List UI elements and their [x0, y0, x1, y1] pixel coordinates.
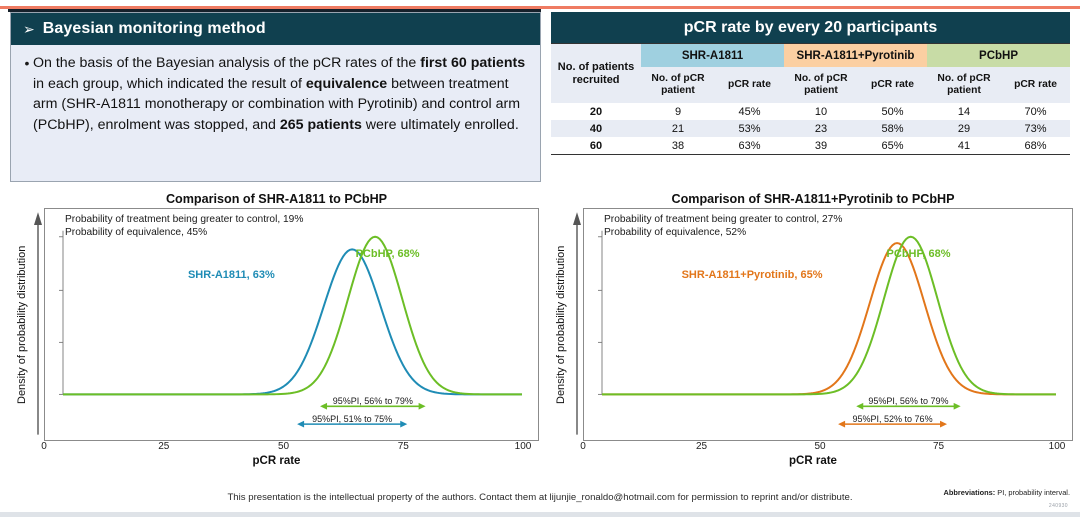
- series-label-shr-a1811-pyrotinib: SHR-A1811+Pyrotinib, 65%: [682, 269, 823, 281]
- x-tick-label: 50: [814, 441, 825, 452]
- row-header-label: No. of patients recruited: [551, 44, 641, 104]
- x-axis-ticks: 0255075100: [583, 441, 1057, 454]
- bullet-icon: •: [21, 53, 33, 135]
- pcr-rate-table: No. of patients recruited SHR-A1811 SHR-…: [551, 43, 1070, 155]
- table-cell: 23: [784, 120, 858, 137]
- slide-root: ➢ Bayesian monitoring method • On the ba…: [0, 0, 1080, 517]
- pi-label: 95%PI, 56% to 79%: [868, 396, 948, 406]
- density-curve-pcbhp: [63, 237, 522, 395]
- x-tick-label: 25: [696, 441, 707, 452]
- abbreviations-note: Abbreviations: PI, probability interval.: [943, 488, 1070, 497]
- abbreviations-text: PI, probability interval.: [995, 488, 1070, 497]
- callout-header: ➢ Bayesian monitoring method: [11, 13, 540, 45]
- x-tick-label: 100: [1049, 441, 1066, 452]
- callout-text: in each group, which indicated the resul…: [33, 76, 306, 92]
- chevron-right-icon: ➢: [23, 22, 35, 36]
- probability-annotation: Probability of treatment being greater t…: [604, 214, 842, 225]
- callout-body: • On the basis of the Bayesian analysis …: [11, 45, 540, 141]
- abbreviations-label: Abbreviations:: [943, 488, 995, 497]
- x-tick-label: 0: [580, 441, 586, 452]
- series-label-pcbhp: PCbHP, 68%: [356, 248, 420, 260]
- table-cell-recruited: 20: [551, 103, 641, 120]
- density-curve-pcbhp: [602, 237, 1056, 395]
- table-cell: 45%: [715, 103, 784, 120]
- plot-area: 95%PI, 56% to 79%95%PI, 51% to 75%Probab…: [44, 208, 539, 441]
- table-cell: 21: [641, 120, 715, 137]
- subheader-cell: No. of pCR patient: [927, 67, 1001, 103]
- table-cell: 29: [927, 120, 1001, 137]
- chart-shr-a1811-vs-pcbhp: Comparison of SHR-A1811 to PCbHPDensity …: [14, 192, 539, 487]
- group-header-pcbhp: PCbHP: [927, 44, 1070, 68]
- probability-annotation: Probability of treatment being greater t…: [65, 214, 303, 225]
- pi-label: 95%PI, 51% to 75%: [312, 414, 392, 424]
- chart-title: Comparison of SHR-A1811+Pyrotinib to PCb…: [553, 192, 1073, 206]
- x-tick-label: 75: [398, 441, 409, 452]
- y-axis-label: Density of probability distribution: [14, 208, 30, 441]
- callout-emphasis: first 60 patients: [420, 55, 525, 71]
- y-axis-arrow-icon: [30, 208, 44, 441]
- x-axis-label: pCR rate: [553, 455, 1073, 467]
- probability-annotation: Probability of equivalence, 45%: [65, 227, 207, 238]
- subheader-cell: pCR rate: [858, 67, 927, 103]
- table-cell: 41: [927, 137, 1001, 155]
- table-cell: 58%: [858, 120, 927, 137]
- callout-text: On the basis of the Bayesian analysis of…: [33, 55, 420, 71]
- callout-emphasis: equivalence: [306, 76, 387, 92]
- slide-code: 240930: [1049, 503, 1068, 509]
- pi-label: 95%PI, 52% to 76%: [853, 414, 933, 424]
- table-cell: 70%: [1001, 103, 1070, 120]
- callout-title: Bayesian monitoring method: [43, 20, 266, 38]
- group-header-shr-a1811: SHR-A1811: [641, 44, 784, 68]
- x-tick-label: 100: [515, 441, 532, 452]
- table-row: 20945%1050%1470%: [551, 103, 1070, 120]
- curves-svg: [584, 209, 1072, 440]
- y-axis-label: Density of probability distribution: [553, 208, 569, 441]
- table-cell: 9: [641, 103, 715, 120]
- subheader-cell: pCR rate: [1001, 67, 1070, 103]
- table-cell: 73%: [1001, 120, 1070, 137]
- table-cell: 39: [784, 137, 858, 155]
- table-cell: 65%: [858, 137, 927, 155]
- table-cell: 68%: [1001, 137, 1070, 155]
- table-cell: 14: [927, 103, 1001, 120]
- probability-annotation: Probability of equivalence, 52%: [604, 227, 746, 238]
- x-axis-label: pCR rate: [14, 455, 539, 467]
- table-cell-recruited: 60: [551, 137, 641, 155]
- table-cell: 10: [784, 103, 858, 120]
- footer-note: This presentation is the intellectual pr…: [0, 492, 1080, 503]
- table-cell: 63%: [715, 137, 784, 155]
- bayesian-callout: ➢ Bayesian monitoring method • On the ba…: [10, 12, 541, 182]
- chart-title: Comparison of SHR-A1811 to PCbHP: [14, 192, 539, 206]
- plot-area: 95%PI, 56% to 79%95%PI, 52% to 76%Probab…: [583, 208, 1073, 441]
- group-header-shr-a1811-pyrotinib: SHR-A1811+Pyrotinib: [784, 44, 927, 68]
- table-row: 603863%3965%4168%: [551, 137, 1070, 155]
- x-tick-label: 50: [278, 441, 289, 452]
- subheader-cell: pCR rate: [715, 67, 784, 103]
- density-curve-shr-a1811-pyrotinib: [602, 243, 1056, 394]
- table-cell: 38: [641, 137, 715, 155]
- table-cell: 50%: [858, 103, 927, 120]
- density-curve-shr-a1811: [63, 249, 522, 394]
- table-title: pCR rate by every 20 participants: [551, 12, 1070, 43]
- y-axis-arrow-icon: [569, 208, 583, 441]
- series-label-shr-a1811: SHR-A1811, 63%: [188, 269, 275, 281]
- subheader-cell: No. of pCR patient: [641, 67, 715, 103]
- x-tick-label: 75: [933, 441, 944, 452]
- callout-emphasis: 265 patients: [280, 117, 362, 133]
- table-row: 402153%2358%2973%: [551, 120, 1070, 137]
- callout-paragraph: On the basis of the Bayesian analysis of…: [33, 53, 528, 135]
- table-cell-recruited: 40: [551, 120, 641, 137]
- pi-label: 95%PI, 56% to 79%: [333, 396, 413, 406]
- curves-svg: [45, 209, 538, 440]
- callout-text: were ultimately enrolled.: [362, 117, 519, 133]
- table-group-header-row: No. of patients recruited SHR-A1811 SHR-…: [551, 44, 1070, 68]
- x-axis-ticks: 0255075100: [44, 441, 523, 454]
- series-label-pcbhp: PCbHP, 68%: [887, 248, 951, 260]
- table-cell: 53%: [715, 120, 784, 137]
- subheader-cell: No. of pCR patient: [784, 67, 858, 103]
- bottom-rule: [0, 512, 1080, 517]
- chart-shr-a1811-pyrotinib-vs-pcbhp: Comparison of SHR-A1811+Pyrotinib to PCb…: [553, 192, 1073, 487]
- table-body: 20945%1050%1470%402153%2358%2973%603863%…: [551, 103, 1070, 155]
- x-tick-label: 0: [41, 441, 47, 452]
- x-tick-label: 25: [158, 441, 169, 452]
- pcr-table-panel: pCR rate by every 20 participants No. of…: [551, 12, 1070, 183]
